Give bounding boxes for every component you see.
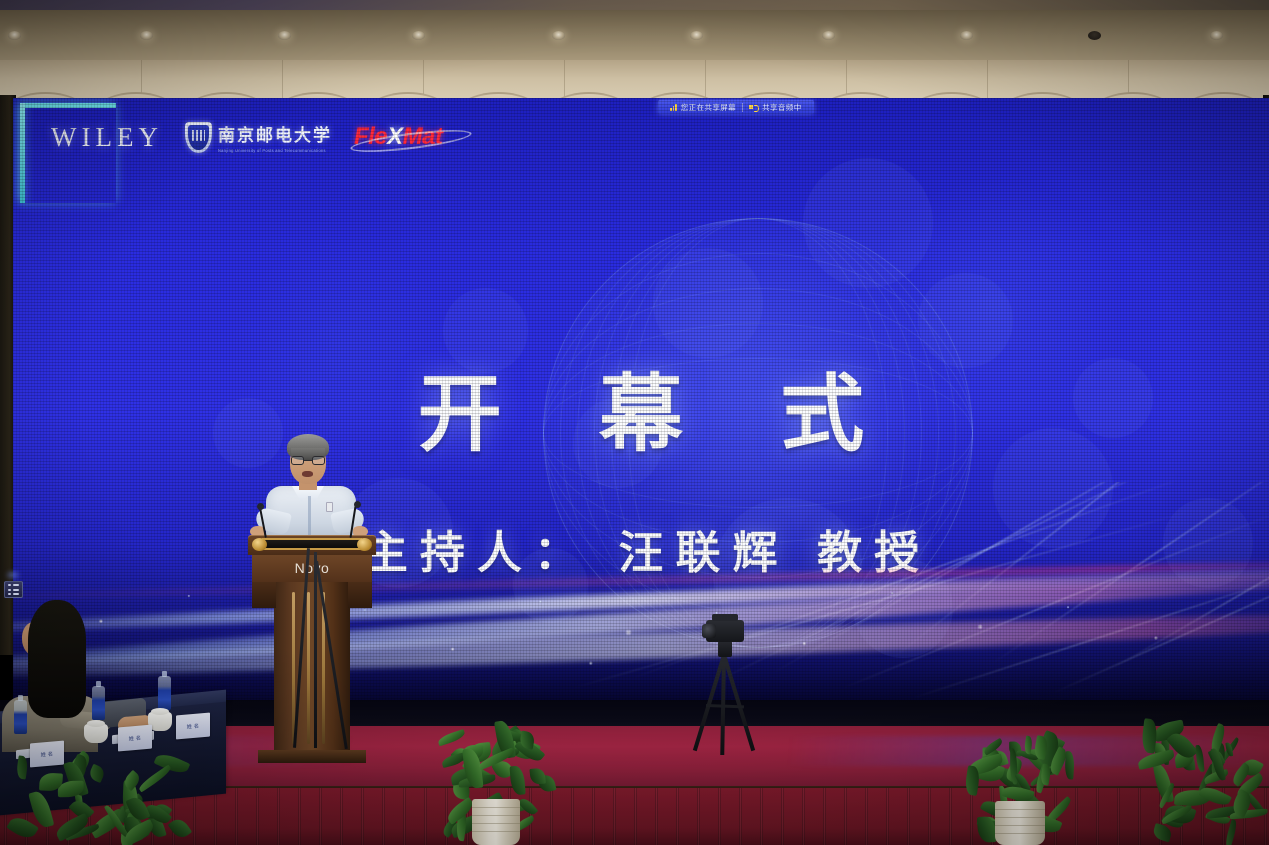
podium-front-panel: Novo xyxy=(252,554,372,582)
nupt-logo-cn: 南京邮电大学 xyxy=(218,121,332,146)
flexmat-logo: FleXMat xyxy=(354,123,443,151)
podium-knob-right xyxy=(357,538,372,551)
plant-leaf xyxy=(529,767,546,785)
podium-left-wing xyxy=(252,582,276,608)
speaker-badge xyxy=(326,502,333,512)
microphone-right-head xyxy=(354,501,361,508)
name-placard-text: 姓 名 xyxy=(187,722,200,730)
name-placard: 姓 名 xyxy=(176,713,210,740)
ceiling-spotlight xyxy=(412,31,425,40)
ceiling-spotlight xyxy=(1210,31,1223,40)
glasses-icon xyxy=(291,456,325,465)
share-screen-segment: 您正在共享屏幕 xyxy=(664,102,742,113)
share-audio-label: 共享音频中 xyxy=(762,102,802,113)
water-bottle xyxy=(92,686,105,720)
ceiling-spotlight xyxy=(690,31,703,40)
plant-foliage xyxy=(0,757,200,845)
nupt-logo: 南京邮电大学 Nanjing University of Posts and T… xyxy=(185,121,332,153)
ceiling-spotlight xyxy=(140,31,153,40)
corner-bracket-accent xyxy=(20,103,25,203)
led-screen: WILEY 南京邮电大学 Nanjing University of Posts… xyxy=(13,98,1269,702)
light-streak-graphics xyxy=(13,482,1269,702)
speaker-mouth xyxy=(302,471,313,477)
speaker-icon xyxy=(749,103,758,111)
sponsor-logo-row: WILEY 南京邮电大学 Nanjing University of Posts… xyxy=(51,117,443,157)
ceiling-spotlight xyxy=(552,31,565,40)
seated-person-1-hair xyxy=(28,600,86,718)
potted-plant xyxy=(960,694,1080,845)
podium-tripod-leg-3 xyxy=(314,552,317,748)
sparkle-particles xyxy=(13,540,1269,680)
name-placard: 姓 名 xyxy=(118,725,152,752)
podium-flutes xyxy=(274,582,350,754)
plant-leaf xyxy=(1198,783,1231,808)
podium-brand-label: Novo xyxy=(295,560,330,576)
potted-plant xyxy=(0,754,200,845)
ceiling-spotlight xyxy=(822,31,835,40)
water-bottle xyxy=(14,700,27,734)
list-menu-icon[interactable] xyxy=(4,581,23,598)
camera-lens-icon xyxy=(702,624,716,638)
plant-leaf xyxy=(1196,744,1205,772)
teacup xyxy=(84,724,108,743)
share-audio-segment: 共享音频中 xyxy=(743,102,808,113)
toolbar-handle-glow xyxy=(5,570,21,580)
screen-share-indicator[interactable]: 您正在共享屏幕 共享音频中 xyxy=(658,100,814,114)
camera-tripod xyxy=(684,612,776,752)
flexmat-logo-part-b: Mat xyxy=(403,123,443,150)
plant-leaf xyxy=(16,756,29,780)
bokeh-circle xyxy=(443,288,528,373)
plant-leaf xyxy=(137,765,172,792)
plant-leaf xyxy=(437,729,466,746)
potted-plant xyxy=(1140,706,1269,845)
tripod-head xyxy=(718,641,732,657)
ceiling-spotlight xyxy=(1088,31,1101,40)
plant-leaf xyxy=(1151,823,1173,842)
plant-foliage xyxy=(1140,725,1269,845)
name-placard-text: 姓 名 xyxy=(129,734,142,742)
plant-leaf xyxy=(168,816,193,842)
tripod-leg-left xyxy=(722,654,755,751)
tripod-brace xyxy=(706,704,744,708)
water-bottle xyxy=(158,676,171,710)
plant-pot xyxy=(472,799,520,845)
plant-leaf xyxy=(6,813,39,842)
conference-photo: WILEY 南京邮电大学 Nanjing University of Posts… xyxy=(0,0,1269,845)
ceiling-spotlight xyxy=(278,31,291,40)
ceiling xyxy=(0,0,1269,62)
potted-plant xyxy=(440,690,552,845)
signal-bars-icon xyxy=(670,103,677,111)
flexmat-logo-part-a: Fle xyxy=(354,123,387,150)
camera-handle xyxy=(712,614,738,621)
share-screen-label: 您正在共享屏幕 xyxy=(681,102,736,113)
plant-leaf xyxy=(87,763,106,783)
slide-title: 开 幕 式 xyxy=(13,372,1269,456)
plant-pot xyxy=(995,801,1045,845)
flexmat-logo-part-x: X xyxy=(387,123,403,150)
podium-base xyxy=(258,750,366,763)
plant-leaf xyxy=(510,765,526,795)
ceiling-spotlight xyxy=(960,31,973,40)
podium-column xyxy=(274,582,350,754)
nupt-shield-icon xyxy=(185,122,212,153)
ceiling-light-strip xyxy=(0,0,1269,10)
nupt-logo-en: Nanjing University of Posts and Telecomm… xyxy=(218,148,332,154)
podium-knob-left xyxy=(252,538,267,551)
podium: Novo xyxy=(248,535,376,767)
microphone-left-head xyxy=(257,503,264,510)
podium-right-wing xyxy=(348,582,372,608)
ceiling-spotlight xyxy=(8,31,21,40)
wiley-logo: WILEY xyxy=(51,122,163,153)
podium-control-plate xyxy=(262,538,362,550)
